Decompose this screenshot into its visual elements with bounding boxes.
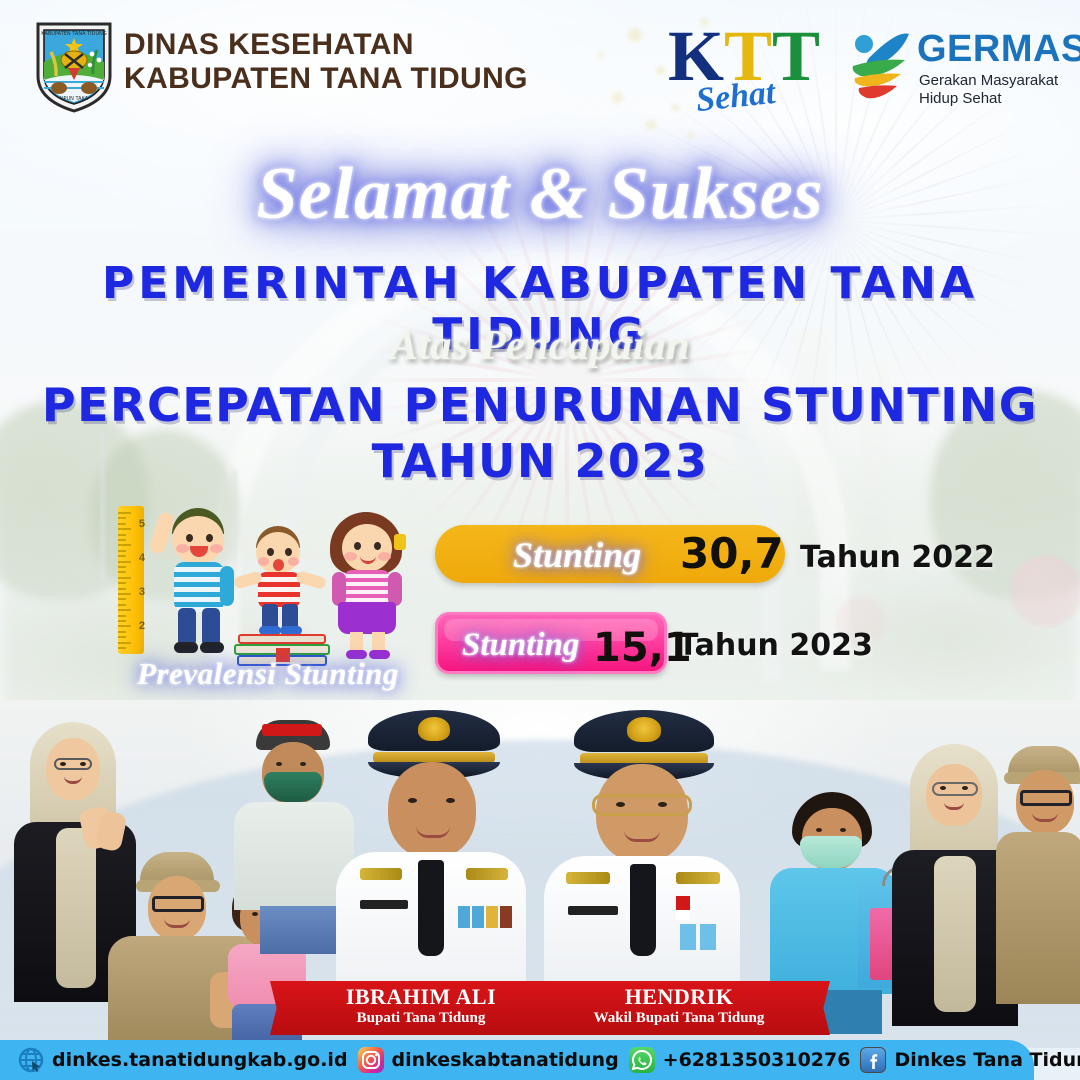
greeting-headline: Selamat & Sukses xyxy=(0,152,1080,237)
germas-figure-icon xyxy=(845,28,913,108)
footer-item-facebook[interactable]: Dinkes Tana Tidung xyxy=(860,1047,1080,1073)
stat-value-2023: 15,1 xyxy=(593,625,692,671)
poster-header: KABUPATEN TANA TIDUNG UPUN TAKA DINAS KE… xyxy=(0,0,1080,125)
ruler-mark-2: 2 xyxy=(139,620,145,632)
bokeh-dot xyxy=(612,92,623,103)
bokeh-dot xyxy=(688,132,694,138)
svg-text:KABUPATEN TANA TIDUNG: KABUPATEN TANA TIDUNG xyxy=(41,31,107,37)
stat-label-2022: Stunting xyxy=(513,534,641,576)
bokeh-dot xyxy=(628,28,642,42)
ruler-mark-5: 5 xyxy=(139,518,145,530)
height-ruler-icon: 5432 xyxy=(118,506,144,654)
contact-footer: dinkes.tanatidungkab.go.id dinkeskabtana… xyxy=(0,1040,1034,1080)
ruler-tick xyxy=(118,534,126,536)
stat-year-2022: Tahun 2022 xyxy=(800,540,995,575)
globe-icon xyxy=(18,1047,44,1073)
ktt-sehat-script: Sehat xyxy=(694,74,777,120)
ruler-mark-4: 4 xyxy=(139,552,145,564)
bokeh-dot xyxy=(700,18,708,26)
organization-title-line1: DINAS KESEHATAN xyxy=(124,28,528,62)
footer-item-instagram[interactable]: dinkeskabtanatidung xyxy=(358,1047,619,1073)
ruler-tick xyxy=(118,631,126,633)
ruler-tick xyxy=(118,566,126,568)
ruler-tick xyxy=(118,550,126,552)
achievement-subtitle: Atas Pencapaian xyxy=(0,322,1080,370)
collage-person-wakil-bupati xyxy=(544,710,740,1000)
ruler-tick xyxy=(118,620,126,622)
child-illustration-girl-right xyxy=(324,512,416,660)
stat-value-2022: 30,7 xyxy=(680,529,784,578)
collage-person-officer-right xyxy=(996,746,1080,1006)
ruler-tick xyxy=(118,577,131,579)
program-title-line2: TAHUN 2023 xyxy=(0,434,1080,488)
official-entry-2: HENDRIK Wakil Bupati Tana Tidung xyxy=(550,985,808,1027)
ktt-letter-t2: T xyxy=(772,20,820,92)
organization-title: DINAS KESEHATAN KABUPATEN TANA TIDUNG xyxy=(124,28,528,96)
ruler-tick xyxy=(118,636,126,638)
ruler-tick xyxy=(118,642,131,644)
bokeh-dot xyxy=(646,120,656,130)
ruler-tick xyxy=(118,604,126,606)
bokeh-dot xyxy=(656,66,665,75)
program-title-line1: PERCEPATAN PENURUNAN STUNTING xyxy=(0,378,1080,432)
ruler-tick xyxy=(118,555,126,557)
germas-wordmark: GERMAS xyxy=(917,28,1080,71)
stat-bar-2022: Stunting 30,7 xyxy=(435,525,785,583)
ruler-tick xyxy=(118,609,131,611)
ruler-tick xyxy=(118,615,126,617)
bokeh-dot xyxy=(672,104,679,111)
official-entry-1: IBRAHIM ALI Bupati Tana Tidung xyxy=(292,985,550,1027)
collage-person-bupati xyxy=(336,710,526,1000)
germas-tagline-line1: Gerakan Masyarakat xyxy=(919,72,1058,90)
ruler-tick xyxy=(118,593,131,595)
whatsapp-icon xyxy=(629,1047,655,1073)
svg-text:UPUN TAKA: UPUN TAKA xyxy=(60,96,89,102)
footer-item-website[interactable]: dinkes.tanatidungkab.go.id xyxy=(18,1047,348,1073)
official-1-role: Bupati Tana Tidung xyxy=(292,1009,550,1027)
footer-instagram-text: dinkeskabtanatidung xyxy=(392,1049,619,1071)
organization-title-line2: KABUPATEN TANA TIDUNG xyxy=(124,62,528,96)
stat-bar-2023: Stunting 15,1 xyxy=(435,612,667,674)
germas-tagline-line2: Hidup Sehat xyxy=(919,90,1058,108)
footer-website-text: dinkes.tanatidungkab.go.id xyxy=(52,1049,348,1071)
instagram-icon xyxy=(358,1047,384,1073)
official-1-name: IBRAHIM ALI xyxy=(292,985,550,1009)
ruler-tick xyxy=(118,571,126,573)
footer-item-whatsapp[interactable]: +6281350310276 xyxy=(629,1047,851,1073)
ktt-sehat-logo: K T T Sehat xyxy=(668,20,828,120)
ruler-tick xyxy=(118,528,131,530)
coat-of-arms-icon: KABUPATEN TANA TIDUNG UPUN TAKA xyxy=(32,18,116,114)
official-2-role: Wakil Bupati Tana Tidung xyxy=(550,1009,808,1027)
ruler-tick xyxy=(118,539,126,541)
ruler-tick xyxy=(118,598,126,600)
ruler-tick xyxy=(118,625,131,627)
ruler-tick xyxy=(118,523,126,525)
footer-whatsapp-text: +6281350310276 xyxy=(663,1049,851,1071)
ruler-tick xyxy=(118,588,126,590)
ruler-tick xyxy=(118,512,131,514)
germas-tagline: Gerakan Masyarakat Hidup Sehat xyxy=(919,72,1058,108)
ruler-tick xyxy=(118,647,126,649)
officials-name-banner: IBRAHIM ALI Bupati Tana Tidung HENDRIK W… xyxy=(292,981,808,1035)
ruler-tick xyxy=(118,517,126,519)
facebook-icon xyxy=(860,1047,886,1073)
prevalence-illustration: 5432 xyxy=(108,498,428,703)
ruler-tick xyxy=(118,544,131,546)
stat-label-2023: Stunting xyxy=(462,627,579,664)
poster-canvas: KABUPATEN TANA TIDUNG UPUN TAKA DINAS KE… xyxy=(0,0,1080,1080)
prevalence-caption: Prevalensi Stunting xyxy=(108,656,428,692)
bokeh-dot xyxy=(598,52,604,58)
official-2-name: HENDRIK xyxy=(550,985,808,1009)
stat-year-2023: Tahun 2023 xyxy=(678,628,873,663)
ruler-tick xyxy=(118,561,131,563)
footer-facebook-text: Dinkes Tana Tidung xyxy=(894,1049,1080,1071)
ruler-tick xyxy=(118,582,126,584)
germas-logo: GERMAS Gerakan Masyarakat Hidup Sehat xyxy=(845,22,1060,118)
ruler-mark-3: 3 xyxy=(139,586,145,598)
